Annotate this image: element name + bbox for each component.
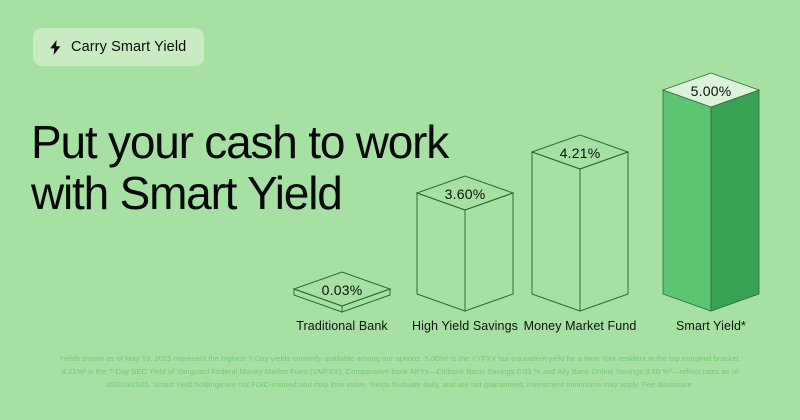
bar-smart-yield[interactable]: 5.00%: [663, 73, 759, 311]
bar-label-money-market-fund: Money Market Fund: [524, 319, 637, 333]
disclaimer-line-3: 05/019/2025. Smart Yield holdings are no…: [0, 378, 800, 391]
bar-value-smart-yield: 5.00%: [691, 83, 732, 99]
bar-label-smart-yield: Smart Yield*: [676, 319, 746, 333]
hero-banner: Carry Smart Yield Put your cash to work …: [0, 0, 800, 420]
bar-value-money-market-fund: 4.21%: [560, 145, 601, 161]
yield-comparison-chart: 0.03% Traditional Bank 3.60% High Yield …: [0, 0, 800, 345]
bar-value-traditional-bank: 0.03%: [322, 282, 363, 298]
bar-traditional-bank[interactable]: 0.03%: [294, 272, 390, 312]
bar-label-high-yield-savings: High Yield Savings: [412, 319, 518, 333]
disclaimer-line-2: 4.21%² is the 7-Day SEC Yield of Vanguar…: [0, 365, 800, 378]
bar-label-traditional-bank: Traditional Bank: [296, 319, 388, 333]
disclaimer-footer: Yields shown as of May 19, 2025 represen…: [0, 352, 800, 392]
bar-money-market-fund[interactable]: 4.21%: [532, 135, 628, 311]
bar-high-yield-savings[interactable]: 3.60%: [417, 176, 513, 311]
disclaimer-line-1: Yields shown as of May 19, 2025 represen…: [0, 352, 800, 365]
bar-value-high-yield-savings: 3.60%: [445, 186, 486, 202]
